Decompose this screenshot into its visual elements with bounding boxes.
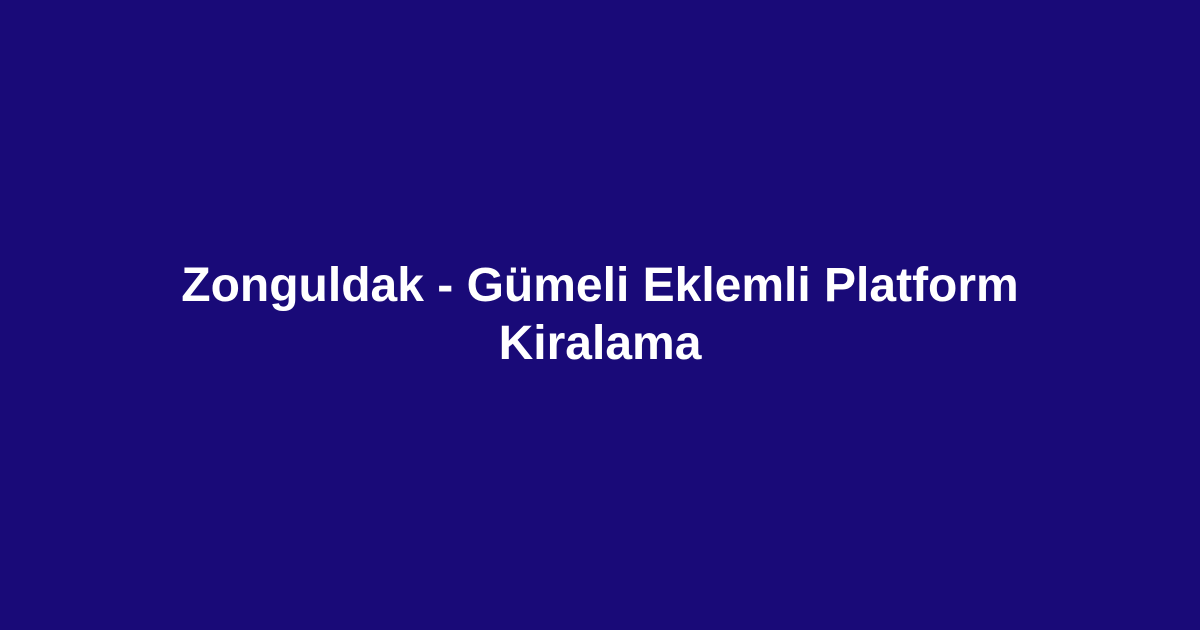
og-image-card: Zonguldak - Gümeli Eklemli Platform Kira… bbox=[0, 0, 1200, 630]
title-block: Zonguldak - Gümeli Eklemli Platform Kira… bbox=[120, 257, 1080, 372]
page-title: Zonguldak - Gümeli Eklemli Platform Kira… bbox=[140, 257, 1060, 372]
